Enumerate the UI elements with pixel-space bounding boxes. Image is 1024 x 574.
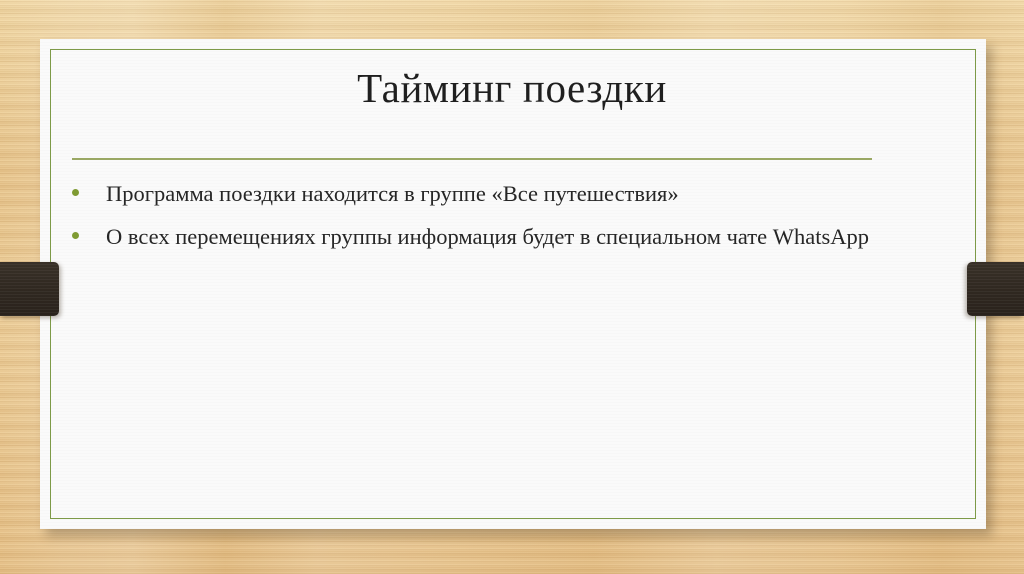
bullet-dot-icon	[72, 232, 79, 239]
slide-content: Тайминг поездки Программа поездки находи…	[0, 0, 1024, 574]
slide-stage: Тайминг поездки Программа поездки находи…	[0, 0, 1024, 574]
slide-title: Тайминг поездки	[0, 66, 1024, 111]
list-item-text: О всех перемещениях группы информация бу…	[106, 224, 869, 249]
list-item: Программа поездки находится в группе «Вс…	[68, 178, 878, 209]
list-item: О всех перемещениях группы информация бу…	[68, 221, 878, 252]
decorative-strap-right	[967, 262, 1024, 316]
bullet-dot-icon	[72, 189, 79, 196]
bullet-list: Программа поездки находится в группе «Вс…	[68, 178, 878, 264]
list-item-text: Программа поездки находится в группе «Вс…	[106, 181, 679, 206]
title-divider-rule	[72, 158, 872, 160]
decorative-strap-left	[0, 262, 59, 316]
